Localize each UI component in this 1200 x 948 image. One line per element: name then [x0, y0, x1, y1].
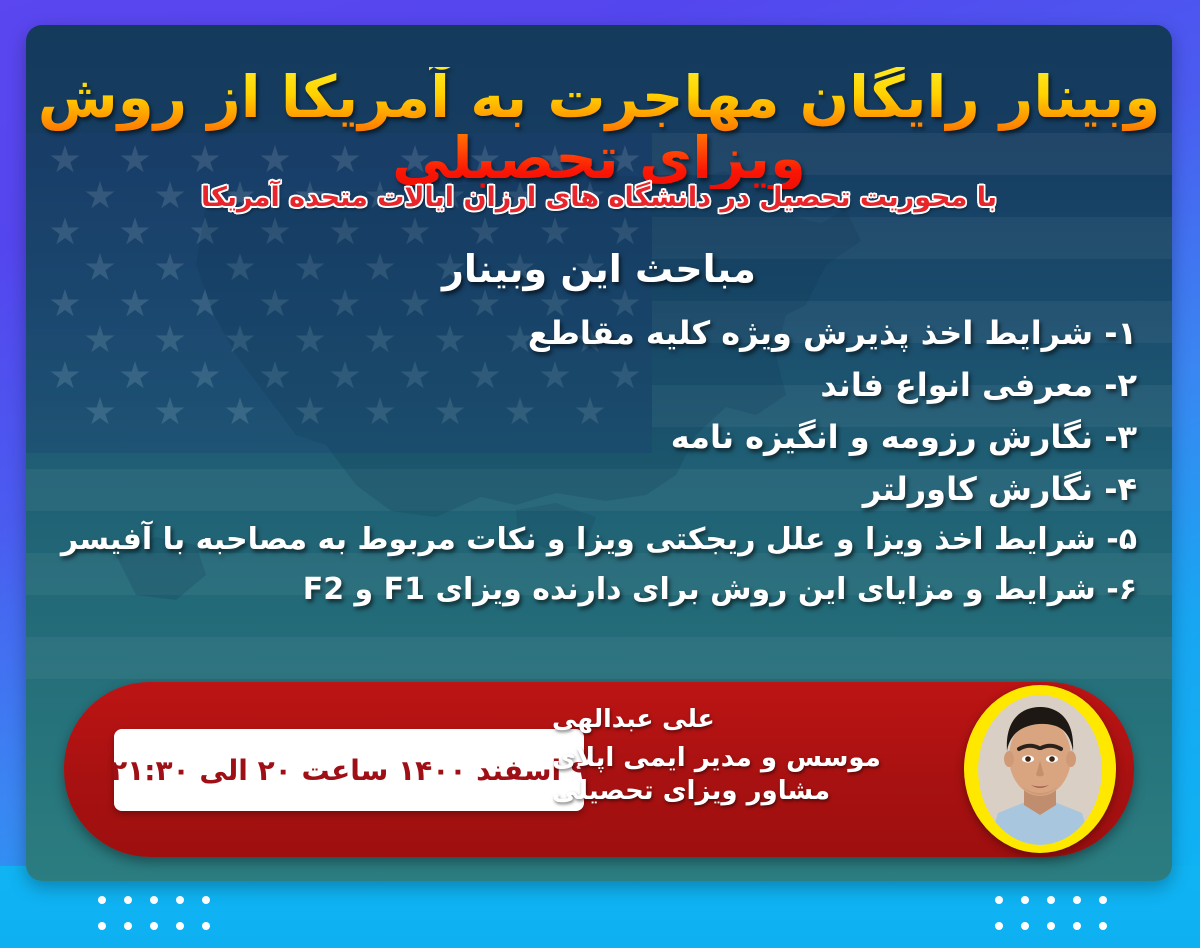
- speaker-name: علی عبدالهی: [552, 704, 952, 733]
- speaker-role-line-2: مشاور ویزای تحصیلی: [552, 775, 952, 808]
- decor-dot: [98, 896, 106, 904]
- decor-dot: [202, 896, 210, 904]
- decor-dot: [1099, 896, 1107, 904]
- topics-list: ۱- شرایط اخذ پذیرش ویژه کلیه مقاطع ۲- مع…: [56, 317, 1137, 625]
- portrait-illustration-icon: [978, 695, 1102, 845]
- poster-card: وبینار رایگان مهاجرت به آمریکا از روش وی…: [26, 25, 1172, 881]
- decor-dot: [1047, 896, 1055, 904]
- list-item: ۶- شرایط و مزایای این روش برای دارنده وی…: [56, 575, 1137, 605]
- decor-dot: [1021, 922, 1029, 930]
- decor-dot: [1073, 922, 1081, 930]
- decor-dot: [1047, 922, 1055, 930]
- list-item: ۳- نگارش رزومه و انگیزه نامه: [56, 421, 1137, 453]
- decor-dot: [124, 922, 132, 930]
- speaker-photo: [978, 695, 1102, 845]
- footer-banner: ۹ اسفند ۱۴۰۰ ساعت ۲۰ الی ۲۱:۳۰ علی عبدال…: [64, 682, 1134, 857]
- decor-dot: [150, 896, 158, 904]
- decor-dot: [202, 922, 210, 930]
- decor-dot: [124, 896, 132, 904]
- decor-dot: [150, 922, 158, 930]
- decor-dot: [995, 922, 1003, 930]
- speaker-info: علی عبدالهی موسس و مدیر ایمی اپلای مشاور…: [552, 704, 952, 809]
- page-subtitle: با محوریت تحصیل در دانشگاه های ارزان ایا…: [26, 182, 1172, 213]
- page-title: وبینار رایگان مهاجرت به آمریکا از روش وی…: [26, 67, 1172, 189]
- list-item: ۱- شرایط اخذ پذیرش ویژه کلیه مقاطع: [56, 317, 1137, 349]
- decor-dot: [995, 896, 1003, 904]
- avatar: [964, 685, 1116, 853]
- poster-content: وبینار رایگان مهاجرت به آمریکا از روش وی…: [26, 25, 1172, 881]
- event-date-box: ۹ اسفند ۱۴۰۰ ساعت ۲۰ الی ۲۱:۳۰: [114, 729, 584, 811]
- speaker-role-line-1: موسس و مدیر ایمی اپلای: [552, 742, 952, 775]
- webinar-poster: وبینار رایگان مهاجرت به آمریکا از روش وی…: [0, 0, 1200, 948]
- decor-dot: [1021, 896, 1029, 904]
- decor-dot: [1073, 896, 1081, 904]
- section-heading-topics: مباحث این وبینار: [26, 247, 1172, 291]
- decor-dot: [176, 896, 184, 904]
- list-item: ۲- معرفی انواع فاند: [56, 369, 1137, 401]
- list-item: ۵- شرایط اخذ ویزا و علل ریجکتی ویزا و نک…: [56, 525, 1137, 555]
- list-item: ۴- نگارش کاورلتر: [56, 473, 1137, 505]
- event-date-text: ۹ اسفند ۱۴۰۰ ساعت ۲۰ الی ۲۱:۳۰: [110, 754, 588, 787]
- decor-dot: [176, 922, 184, 930]
- decor-dot: [1099, 922, 1107, 930]
- decor-dot: [98, 922, 106, 930]
